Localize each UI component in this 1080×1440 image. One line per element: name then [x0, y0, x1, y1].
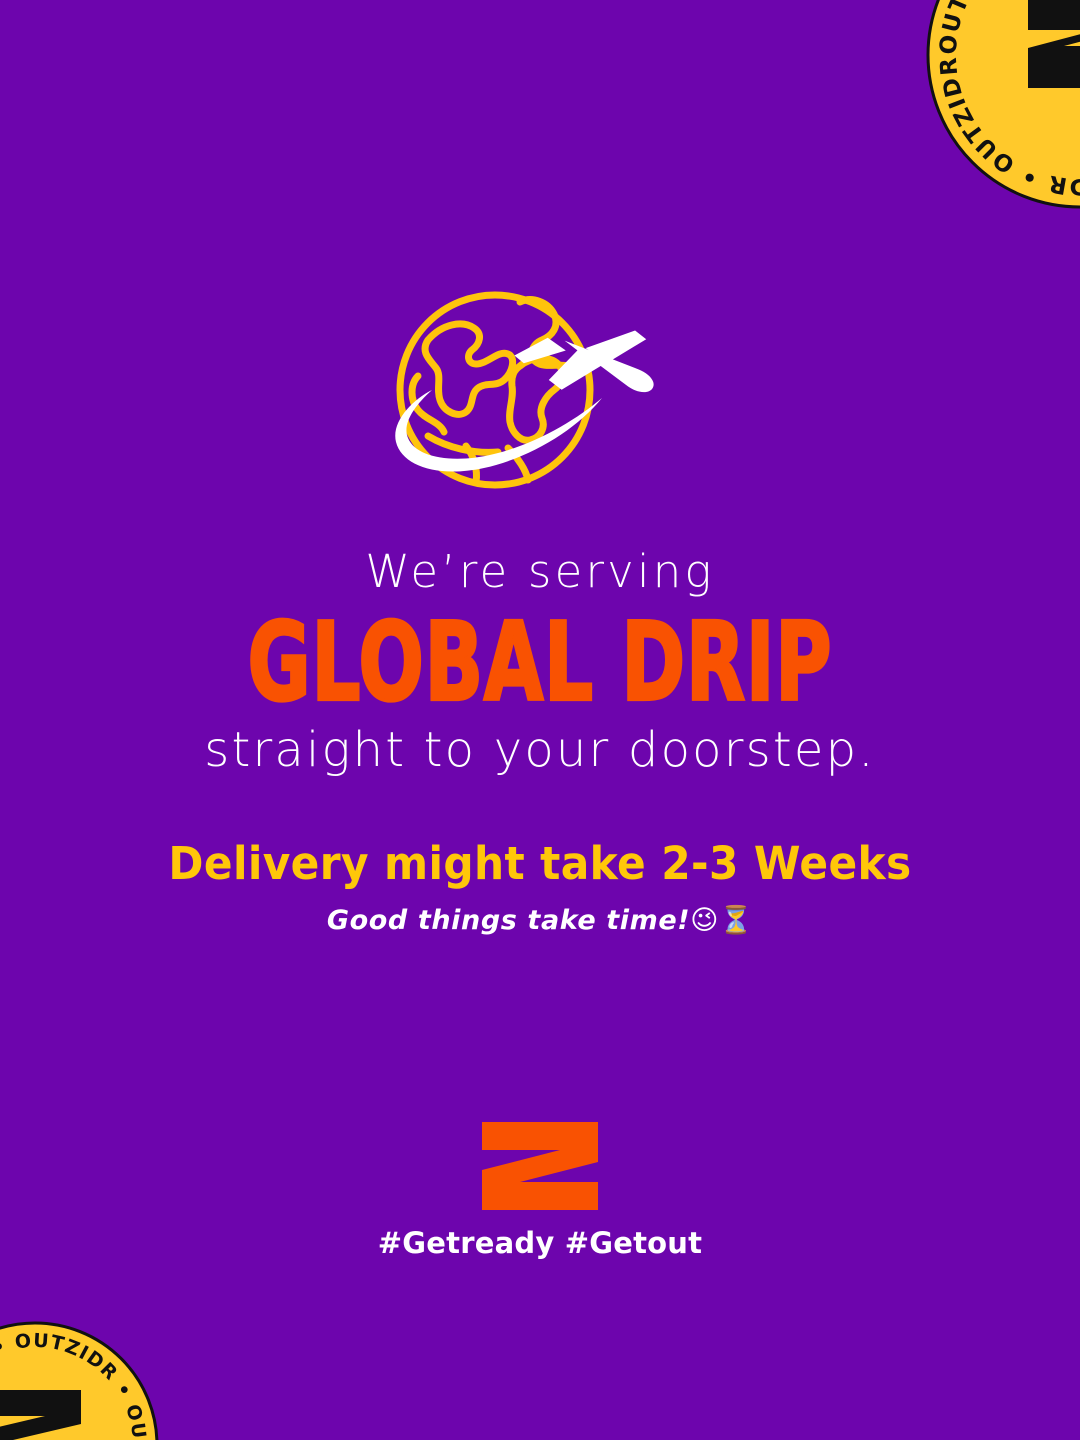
- hero-illustration: [0, 275, 1080, 515]
- poster-canvas: OUTZIDR • OUTZIDR • OUTZIDR • OUTZIDR • …: [0, 0, 1080, 1440]
- outzidr-z-logomark: [476, 1118, 604, 1214]
- wink-face-emoji: 😉: [690, 905, 719, 936]
- outzidr-seal-top-right: OUTZIDR • OUTZIDR • OUTZIDR • OUTZIDR • …: [925, 0, 1080, 210]
- page-title: GLOBAL DRIP: [108, 603, 972, 723]
- orbit-swoosh-icon: [395, 390, 602, 472]
- eyebrow-text: We’re serving: [0, 548, 1080, 595]
- reassurance-line: Good things take time!😉⏳: [0, 904, 1080, 936]
- reassurance-text: Good things take time!: [327, 905, 690, 936]
- delivery-note: Delivery might take 2-3 Weeks: [32, 837, 1047, 890]
- copy-block: We’re serving GLOBAL DRIP straight to yo…: [0, 548, 1080, 936]
- hourglass-emoji: ⏳: [719, 905, 753, 936]
- subline-text: straight to your doorstep.: [0, 725, 1080, 775]
- outzidr-seal-bottom-left: OUTZIDR • OUTZIDR • OUTZIDR • OUTZIDR • …: [0, 1320, 160, 1440]
- footer-lockup: #Getready #Getout: [0, 1118, 1080, 1260]
- globe-with-airplane-icon: [370, 280, 710, 510]
- hashtags-text: #Getready #Getout: [0, 1226, 1080, 1260]
